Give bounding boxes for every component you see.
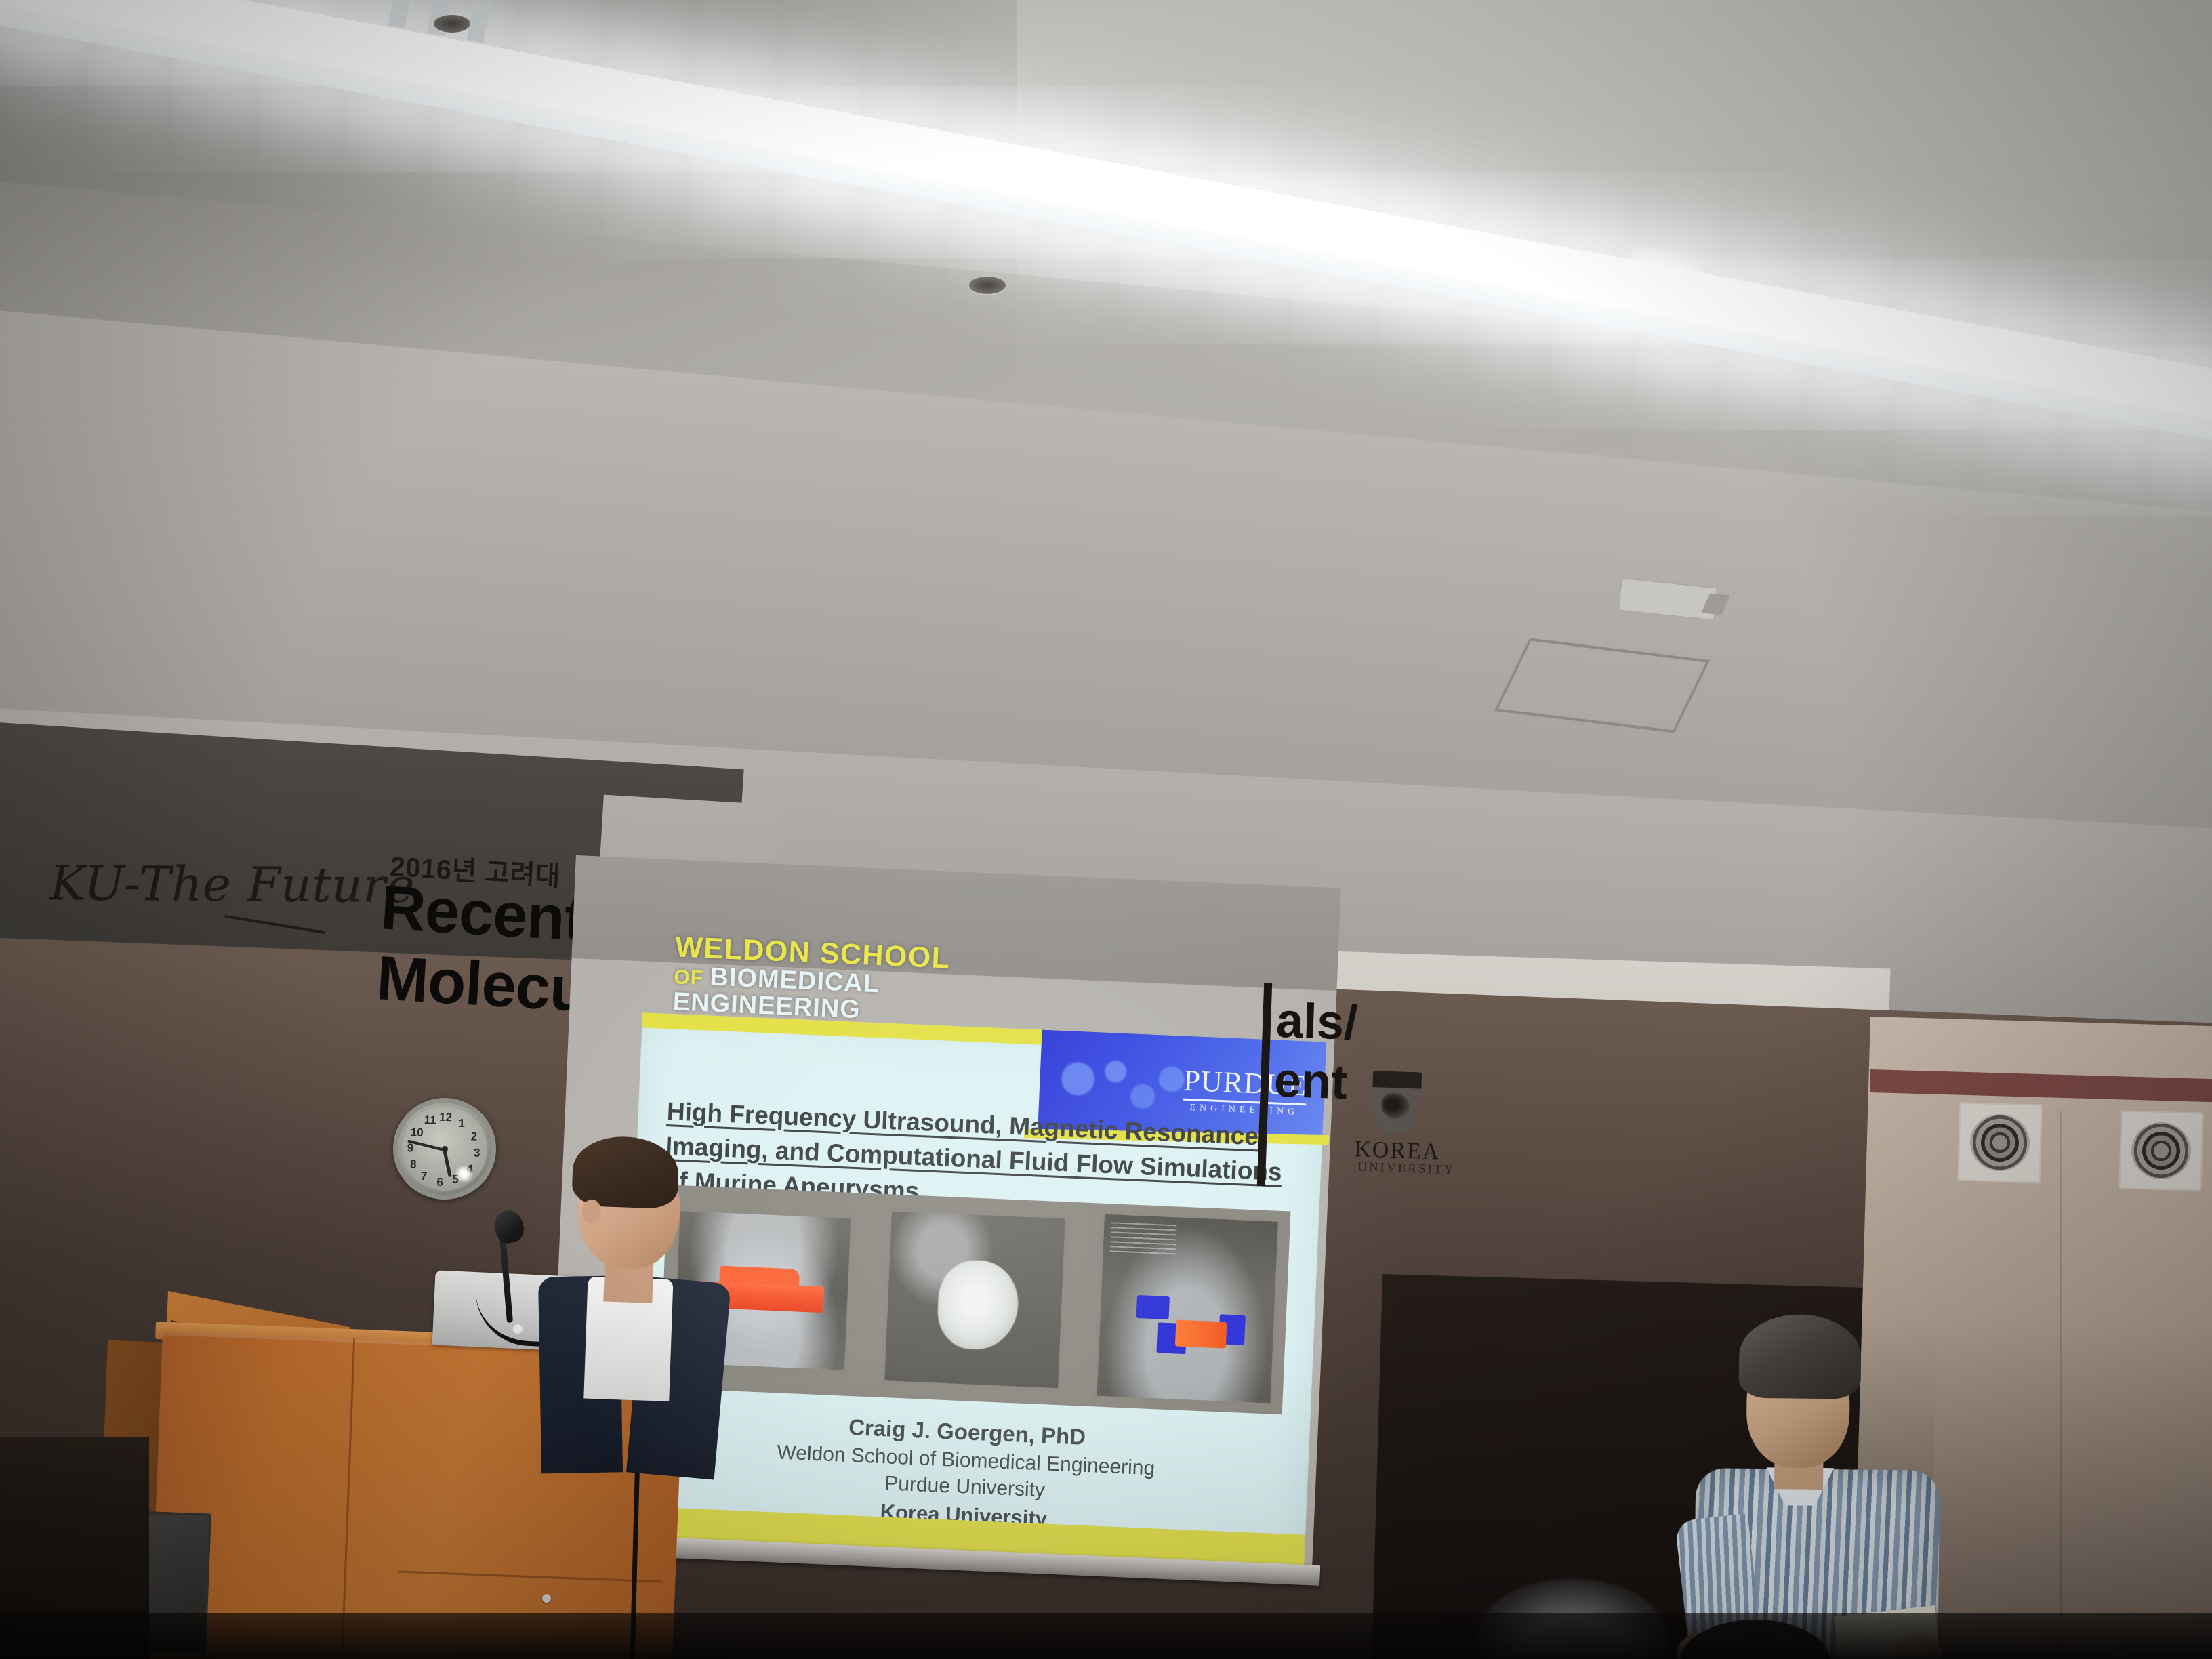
clock-numeral: 7	[420, 1170, 427, 1183]
color-doppler-figure	[1092, 1210, 1282, 1408]
weldon-school-header: WELDON SCHOOL OF BIOMEDICAL ENGINEERING	[672, 933, 951, 1027]
clock-glass-glare	[455, 1166, 473, 1183]
right-banner-line-1: als/	[1275, 991, 1562, 1061]
clock-numeral: 10	[410, 1126, 424, 1140]
floor-shadow	[0, 1613, 2212, 1659]
slide-figure-row	[659, 1185, 1291, 1414]
downlight-icon	[969, 276, 1006, 294]
lecture-hall-photo: KU-The Future 2016년 고려대 Recent Molecul 1…	[0, 0, 2212, 1659]
clock-numeral: 6	[436, 1175, 443, 1189]
clock-numeral: 1	[458, 1116, 465, 1130]
clock-face: 12 1 2 3 4 5 6 7 8 9 10 11	[401, 1105, 489, 1192]
korea-university-crest: KOREA UNIVERSITY	[1343, 1069, 1477, 1202]
clock-numeral: 11	[424, 1113, 436, 1128]
weldon-of-word: OF	[674, 966, 710, 989]
clock-numeral: 8	[410, 1158, 417, 1171]
ultrasound-hud-overlay	[1110, 1222, 1176, 1255]
attendee-hair	[1738, 1314, 1861, 1399]
ku-the-future-logo: KU-The Future	[49, 855, 415, 914]
clock-numeral: 12	[439, 1111, 453, 1125]
clock-numeral: 3	[474, 1146, 480, 1160]
air-diffuser-icon	[2119, 1110, 2204, 1191]
crest-subtitle: UNIVERSITY	[1357, 1160, 1456, 1178]
wall-seam	[2060, 1111, 2062, 1659]
lectern-knob-icon[interactable]	[542, 1594, 551, 1603]
banner-headline-1: Recent	[379, 872, 586, 956]
clock-center-pin	[442, 1146, 448, 1152]
presenter-hair	[571, 1135, 680, 1209]
left-wall-banner: KU-The Future 2016년 고려대 Recent Molecul	[14, 806, 569, 1055]
mri-figure	[880, 1207, 1069, 1392]
clock-hour-hand	[443, 1150, 451, 1177]
presenter-at-podium	[516, 1141, 752, 1474]
air-diffuser-icon	[1958, 1102, 2043, 1183]
doppler-orange-region	[1175, 1319, 1227, 1348]
clock-numeral: 2	[470, 1130, 477, 1144]
downlight-icon	[434, 15, 470, 33]
ku-logo-underline	[224, 915, 325, 934]
attendee-with-papers	[1679, 1313, 1967, 1659]
doppler-blue-region	[1136, 1295, 1170, 1319]
